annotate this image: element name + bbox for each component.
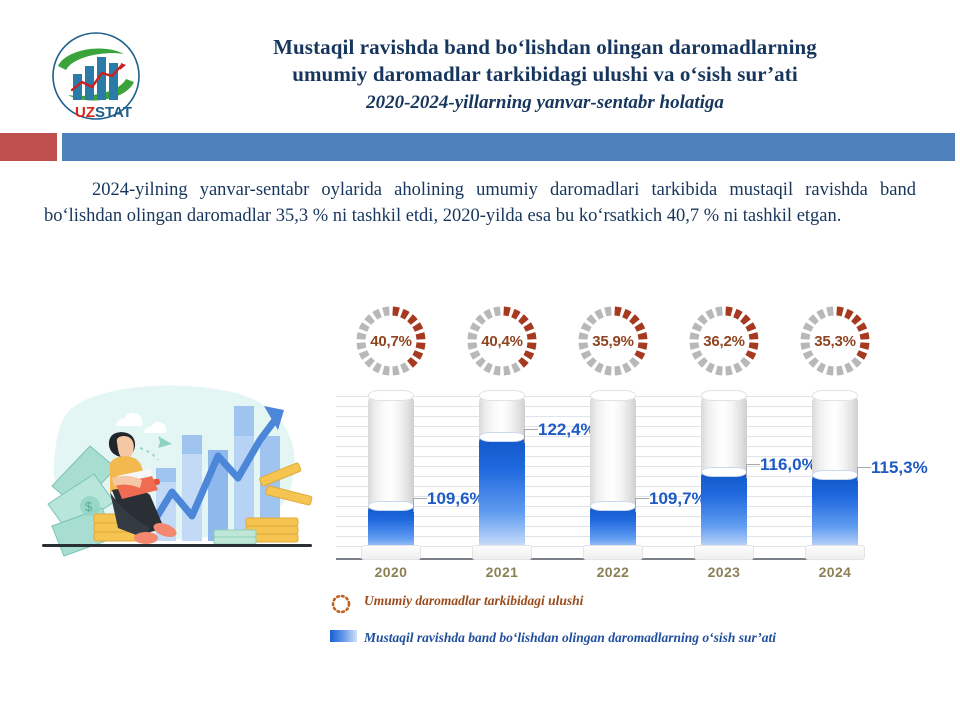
year-label-2021: 2021 xyxy=(465,564,539,580)
bar-base-plate xyxy=(694,545,754,560)
dotted-circle-icon xyxy=(330,593,364,615)
donut-chart-2020: 40,7% xyxy=(352,302,430,380)
donut-chart-2023: 36,2% xyxy=(685,302,763,380)
donut-chart-2022: 35,9% xyxy=(574,302,652,380)
value-leader-line xyxy=(857,467,871,481)
bar-fill-cap xyxy=(368,501,414,511)
legend-label-share: Umumiy daromadlar tarkibidagi ulushi xyxy=(364,592,583,609)
year-label-2022: 2022 xyxy=(576,564,650,580)
value-leader-line xyxy=(524,429,538,443)
bar-base-plate xyxy=(472,545,532,560)
svg-text:UZ: UZ xyxy=(75,104,95,121)
header-rule-red xyxy=(0,133,57,161)
chart-legend: Umumiy daromadlar tarkibidagi ulushi Mus… xyxy=(330,592,900,660)
bar-base-plate xyxy=(805,545,865,560)
bar-tube-cap xyxy=(368,390,414,401)
title-line-1: Mustaqil ravishda band bo‘lishdan olinga… xyxy=(150,34,940,61)
donut-value-label-2023: 36,2% xyxy=(685,302,763,380)
page-subtitle: 2020-2024-yillarning yanvar-sentabr hola… xyxy=(150,90,940,116)
value-leader-line xyxy=(746,464,760,478)
bar-fill-2021 xyxy=(479,437,525,558)
uzstat-logo-graphic: UZ STAT xyxy=(48,30,144,126)
page-header: UZ STAT Mustaqil ravishda band bo‘lishda… xyxy=(0,0,960,165)
x-axis-tick-labels: 20202021202220232024 xyxy=(336,564,856,586)
bar-fill-cap xyxy=(479,432,525,442)
bar-tube-cap xyxy=(479,390,525,401)
svg-text:$: $ xyxy=(85,499,93,514)
bar-base-plate xyxy=(361,545,421,560)
value-leader-line xyxy=(413,498,427,512)
bar-fill-cap xyxy=(701,467,747,477)
bar-plot: 109,6%122,4%109,7%116,0%115,3% xyxy=(336,388,856,560)
bar-tube-cap xyxy=(590,390,636,401)
bar-tube-cap xyxy=(701,390,747,401)
illustration-person-with-laptop: $ xyxy=(32,378,332,570)
bar-fill-cap xyxy=(812,470,858,480)
svg-text:STAT: STAT xyxy=(95,104,132,121)
donut-value-label-2021: 40,4% xyxy=(463,302,541,380)
donut-chart-2021: 40,4% xyxy=(463,302,541,380)
blue-swatch-icon xyxy=(330,630,364,642)
bar-base-plate xyxy=(583,545,643,560)
year-label-2020: 2020 xyxy=(354,564,428,580)
donut-value-label-2022: 35,9% xyxy=(574,302,652,380)
title-line-2: umumiy daromadlar tarkibidagi ulushi va … xyxy=(150,61,940,88)
year-label-2024: 2024 xyxy=(798,564,872,580)
value-leader-line xyxy=(635,498,649,512)
legend-label-growth: Mustaqil ravishda band bo‘lishdan olinga… xyxy=(364,629,776,646)
bar-group-2020 xyxy=(354,396,428,558)
donut-value-label-2020: 40,7% xyxy=(352,302,430,380)
bar-group-2022 xyxy=(576,396,650,558)
uzstat-logo: UZ STAT xyxy=(48,30,144,126)
illustration-graphic: $ xyxy=(32,378,332,570)
bar-fill-cap xyxy=(590,501,636,511)
header-rule-blue xyxy=(62,133,955,161)
bar-tube-cap xyxy=(812,390,858,401)
donut-chart-2024: 35,3% xyxy=(796,302,874,380)
bar-group-2021 xyxy=(465,396,539,558)
legend-item-share: Umumiy daromadlar tarkibidagi ulushi xyxy=(330,592,900,615)
bar-value-label-2024: 115,3% xyxy=(871,458,928,478)
chart-area: 40,7%40,4%35,9%36,2%35,3% 109,6%122,4%10… xyxy=(336,296,856,586)
legend-item-growth: Mustaqil ravishda band bo‘lishdan olinga… xyxy=(330,629,900,646)
donut-series-row: 40,7%40,4%35,9%36,2%35,3% xyxy=(336,296,856,382)
year-label-2023: 2023 xyxy=(687,564,761,580)
donut-value-label-2024: 35,3% xyxy=(796,302,874,380)
page-title: Mustaqil ravishda band bo‘lishdan olinga… xyxy=(150,34,940,116)
body-paragraph: 2024-yilning yanvar-sentabr oylarida aho… xyxy=(44,178,916,229)
